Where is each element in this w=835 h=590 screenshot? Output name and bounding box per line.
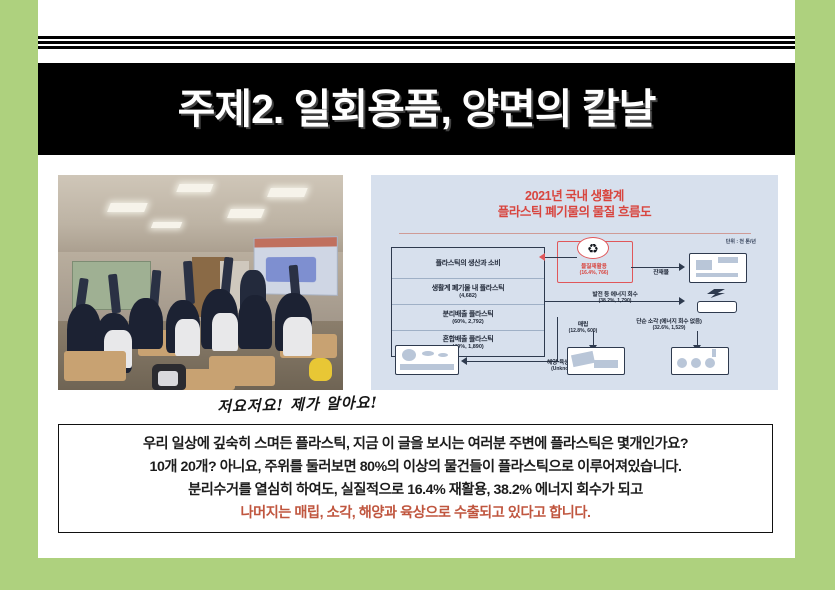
flow-label-energy-recovery: 발전 등 에너지 회수 (38.2%, 1,790): [561, 289, 669, 304]
description-line: 분리수거를 열심히 하여도, 실질적으로 16.4% 재활용, 38.2% 에너…: [188, 479, 643, 502]
arrow-head-left: [539, 253, 545, 261]
box-separator: [392, 330, 544, 331]
photo-light: [151, 222, 182, 228]
flow-label: 매립: [553, 319, 613, 328]
description-line: 10개 20개? 아니요, 주위를 둘러보면 80%의 이상의 물건들이 플라스…: [150, 456, 682, 479]
node-label: 혼합배출 플라스틱: [392, 334, 544, 344]
photo-student: [238, 295, 272, 349]
infographic-title-line1: 2021년 국내 생활계: [525, 189, 624, 203]
flow-node-separated: 분리배출 플라스틱 (60%, 2,792): [392, 309, 544, 325]
flow-label-material-recycling: 물질재활용 (16.4%, 766): [557, 262, 631, 276]
media-row: 2021년 국내 생활계 플라스틱 폐기물의 물질 흐름도 단위 : 천 톤/년…: [38, 175, 795, 390]
arrow-head-right: [679, 297, 685, 305]
infographic-unit-label: 단위 : 천 톤/년: [726, 238, 756, 245]
photo-student: [129, 298, 163, 350]
title-band: 주제2. 일회용품, 양면의 칼날: [38, 63, 795, 155]
description-line-accent: 나머지는 매립, 소각, 해양과 육상으로 수출되고 있다고 합니다.: [241, 502, 591, 525]
nature-leakage-icon: [395, 345, 459, 375]
page-title: 주제2. 일회용품, 양면의 칼날: [178, 89, 656, 130]
flow-node-production: 플라스틱의 생산과 소비: [392, 258, 544, 268]
flow-label: 잔재물: [633, 267, 689, 276]
classroom-photo: [58, 175, 343, 390]
photo-student-shirt: [212, 313, 238, 352]
box-separator: [392, 304, 544, 305]
flow-value: (16.4%, 766): [557, 270, 631, 276]
flow-label: 물질재활용: [557, 262, 631, 270]
incineration-plant-icon: [671, 347, 729, 375]
photo-light: [108, 203, 149, 212]
flow-node-household-waste: 생활계 폐기물 내 플라스틱 (4,682): [392, 283, 544, 299]
slide-root: 주제2. 일회용품, 양면의 칼날: [0, 0, 835, 590]
photo-light: [267, 188, 308, 197]
stripe-line-2: [38, 41, 795, 44]
stripe-line-3: [38, 46, 795, 49]
photo-backpack-highlight: [158, 371, 178, 386]
infographic-left-box: 플라스틱의 생산과 소비 생활계 폐기물 내 플라스틱 (4,682) 분리배출…: [391, 247, 545, 357]
infographic-title: 2021년 국내 생활계 플라스틱 폐기물의 물질 흐름도: [371, 188, 778, 220]
photo-light: [227, 209, 265, 218]
flow-value: (38.2%, 1,790): [561, 298, 669, 304]
decorative-stripes: [38, 33, 795, 63]
flow-value: (12.8%, 600): [553, 328, 613, 334]
flow-label: 단순 소각 (에너지 회수 없음): [623, 316, 715, 325]
recycle-icon: ♻: [577, 237, 609, 259]
box-separator: [392, 278, 544, 279]
node-label: 분리배출 플라스틱: [392, 309, 544, 319]
flow-label-byproduct: 잔재물: [633, 267, 689, 276]
photo-student-shirt: [283, 317, 312, 356]
infographic-divider: [399, 233, 751, 234]
infographic-title-line2: 플라스틱 폐기물의 물질 흐름도: [498, 205, 652, 219]
node-value: (4,682): [392, 293, 544, 299]
plastic-flow-infographic: 2021년 국내 생활계 플라스틱 폐기물의 물질 흐름도 단위 : 천 톤/년…: [371, 175, 778, 390]
flow-label-landfill: 매립 (12.8%, 600): [553, 319, 613, 334]
flow-label: 발전 등 에너지 회수: [561, 289, 669, 298]
photo-screen-header: [254, 238, 336, 248]
photo-light: [176, 184, 213, 192]
flow-value: (32.6%, 1,529): [623, 325, 715, 331]
node-label: 생활계 폐기물 내 플라스틱: [392, 283, 544, 293]
photo-student-shirt: [175, 319, 201, 356]
arrow-head-left: [461, 357, 467, 365]
flow-label-simple-incineration: 단순 소각 (에너지 회수 없음) (32.6%, 1,529): [623, 316, 715, 331]
landfill-icon: [567, 347, 625, 375]
energy-recovery-icon: [689, 287, 745, 315]
photo-desk: [64, 351, 127, 381]
arrow-leak-vertical: [557, 317, 558, 361]
arrow-recycle-to-production: [545, 257, 577, 258]
photo-yellow-bag: [309, 358, 332, 382]
factory-icon: [689, 253, 747, 283]
stripe-line-1: [38, 36, 795, 39]
node-label: 플라스틱의 생산과 소비: [392, 258, 544, 268]
description-textbox: 우리 일상에 깊숙히 스며든 플라스틱, 지금 이 글을 보시는 여러분 주변에…: [58, 424, 773, 533]
node-value: (60%, 2,792): [392, 319, 544, 325]
description-line: 우리 일상에 깊숙히 스며든 플라스틱, 지금 이 글을 보시는 여러분 주변에…: [143, 433, 688, 456]
